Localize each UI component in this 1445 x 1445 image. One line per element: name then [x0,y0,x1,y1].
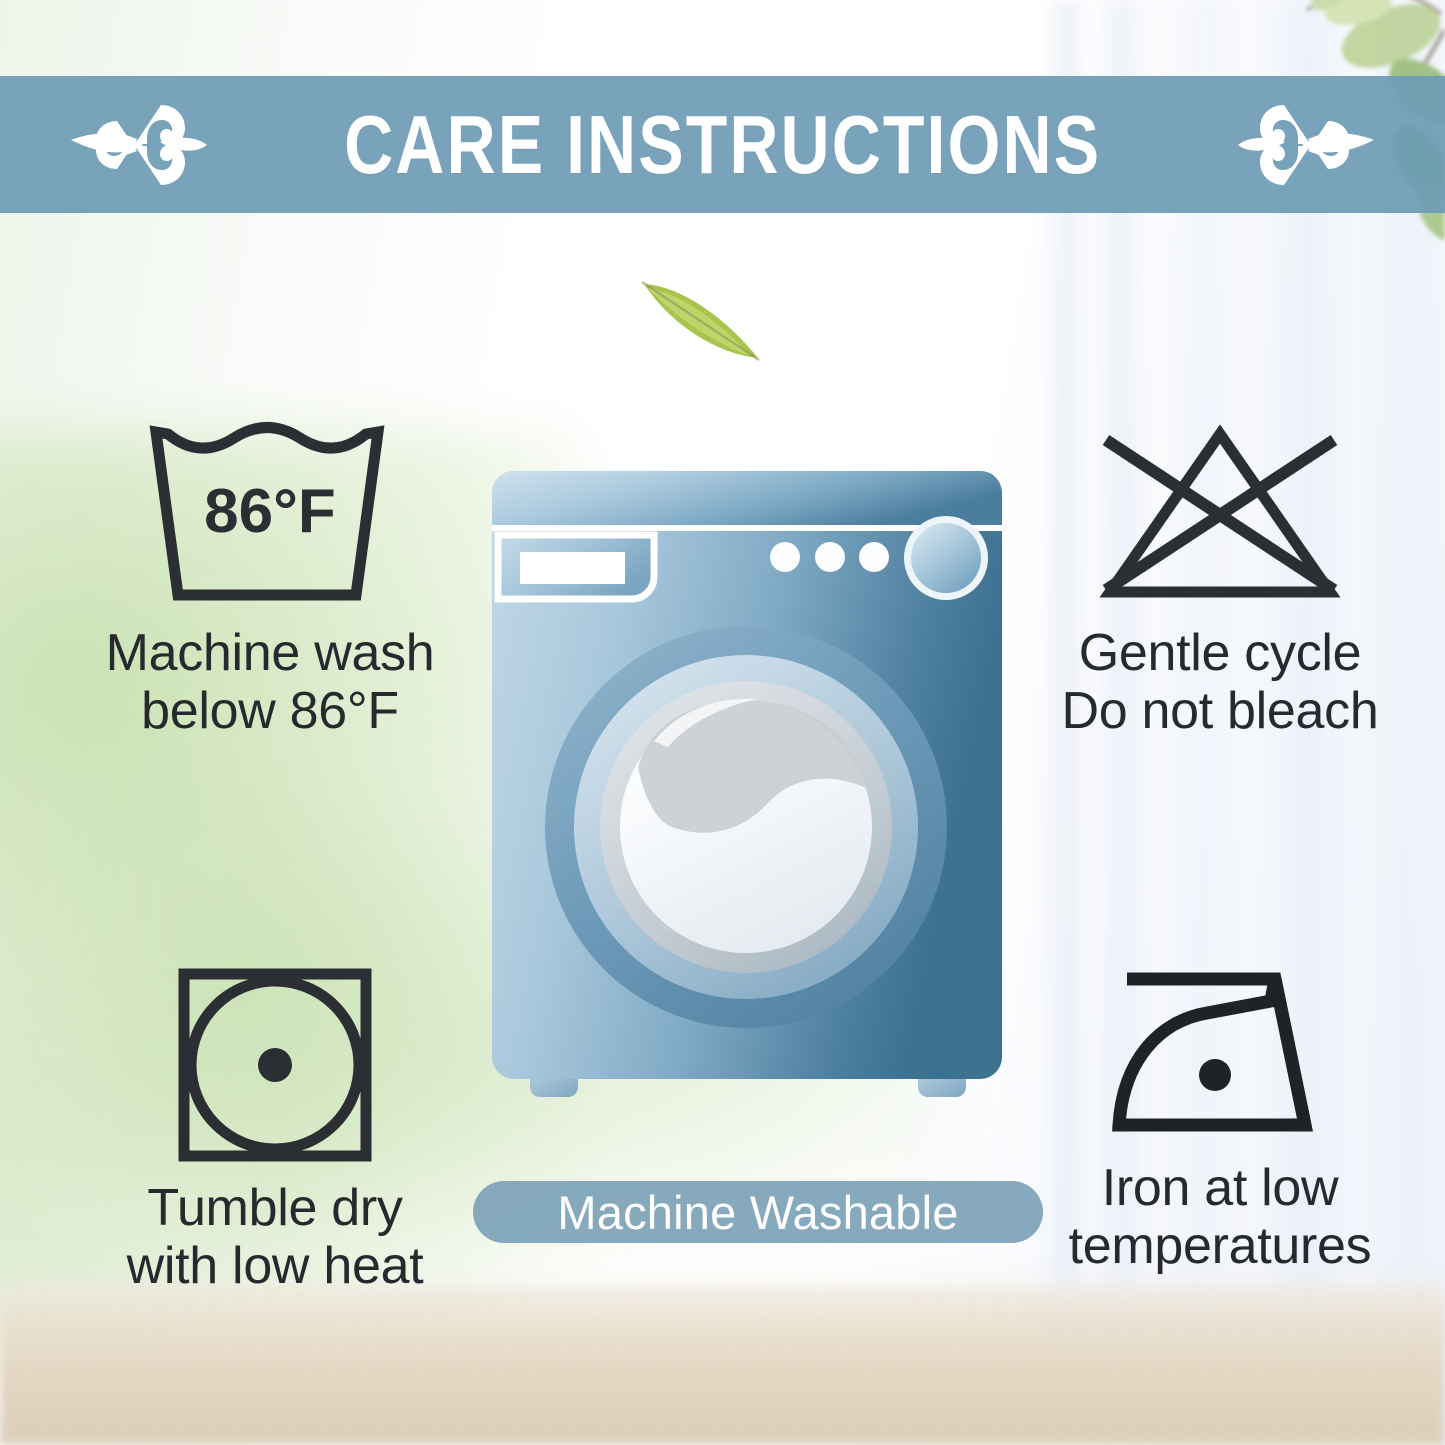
header-banner: CARE INSTRUCTIONS [0,76,1445,213]
care-item-machine-wash: 86°F Machine wash below 86°F [40,420,500,740]
fleur-de-lis-icon-left [65,97,215,193]
washer-indicator-dot-1 [770,542,800,572]
machine-washable-badge: Machine Washable [473,1181,1043,1243]
iron-icon [1103,965,1338,1145]
care-item-do-not-bleach: Gentle cycle Do not bleach [1000,420,1440,740]
washer-drawer-slot [520,552,625,584]
fleur-de-lis-icon-right [1230,97,1380,193]
page-title: CARE INSTRUCTIONS [344,103,1101,186]
machine-washable-badge-label: Machine Washable [557,1189,958,1236]
care-item-tumble-dry: Tumble dry with low heat [60,965,490,1295]
care-caption-machine-wash: Machine wash below 86°F [106,624,435,740]
washer-indicator-dot-2 [815,542,845,572]
washer-top-lid [492,471,1002,525]
washer-knob [911,523,981,593]
washing-machine-illustration [478,455,1016,1120]
falling-leaf-icon [638,272,773,372]
care-caption-do-not-bleach: Gentle cycle Do not bleach [1062,624,1379,740]
triangle-crossed-out-icon [1094,420,1346,610]
care-item-iron: Iron at low temperatures [1005,965,1435,1275]
wash-temperature-label: 86°F [204,477,336,546]
care-instructions-infographic: CARE INSTRUCTIONS 86°F Machine wash belo… [0,0,1445,1445]
wash-tub-icon: 86°F [146,420,394,610]
care-caption-iron: Iron at low temperatures [1069,1159,1372,1275]
tumble-dry-square-circle-icon [175,965,375,1165]
wooden-table-surface [0,1287,1445,1445]
care-caption-tumble-dry: Tumble dry with low heat [127,1179,424,1295]
washer-indicator-dot-3 [859,542,889,572]
